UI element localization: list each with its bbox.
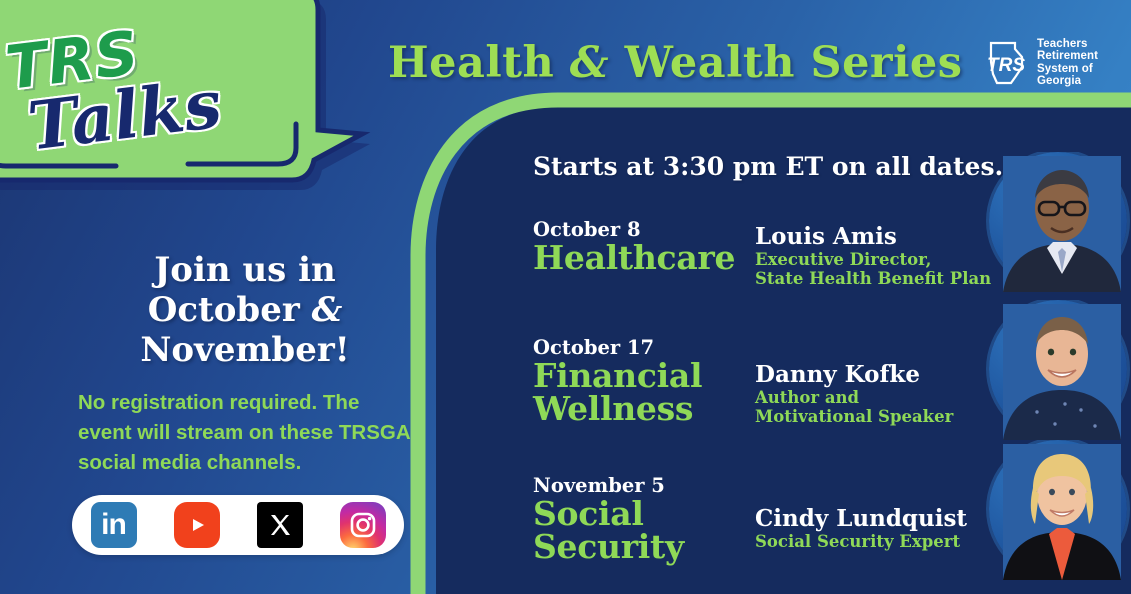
session-3-topic-line-1: Social <box>533 497 755 530</box>
x-twitter-icon[interactable] <box>257 502 303 548</box>
title-part-1: Health <box>388 38 570 88</box>
page-title: Health & Wealth Series <box>388 38 948 88</box>
join-us-heading: Join us in October & November! <box>80 250 410 370</box>
speaker-photo-louis-amis <box>985 152 1131 292</box>
linkedin-icon-label: in <box>101 510 126 540</box>
speaker-photo-cindy-lundquist <box>985 440 1131 580</box>
logo-org-name: Teachers Retirement System of Georgia <box>1037 38 1098 88</box>
session-3-speaker-block: Cindy Lundquist Social Security Expert <box>755 474 967 563</box>
instagram-glyph <box>348 510 378 540</box>
trs-georgia-logo: TRS Teachers Retirement System of Georgi… <box>985 38 1098 88</box>
session-2-topic-block: October 17 Financial Wellness <box>533 336 755 426</box>
session-1-topic: Healthcare <box>533 241 755 274</box>
registration-note: No registration required. The event will… <box>78 388 414 478</box>
svg-text:TRS: TRS <box>987 55 1025 76</box>
logo-org-line-1: Teachers <box>1037 38 1098 50</box>
session-row-social-security: November 5 Social Security Cindy Lundqui… <box>533 474 1003 563</box>
session-row-healthcare: October 8 Healthcare Louis Amis Executiv… <box>533 218 1003 288</box>
session-2-role-line-2: Motivational Speaker <box>755 407 953 426</box>
join-line-2: October & <box>80 290 410 330</box>
join-line-2-text: October <box>148 290 312 330</box>
headshot-image-3 <box>1003 444 1121 580</box>
speaker-photo-danny-kofke <box>985 300 1131 440</box>
promo-poster: TRS Talks Health & Wealth Series TRS Tea… <box>0 0 1131 594</box>
session-1-speaker: Louis Amis <box>755 224 991 250</box>
trs-talks-logo: TRS Talks <box>0 0 386 229</box>
start-time-note: Starts at 3:30 pm ET on all dates. <box>533 152 1003 181</box>
session-1-speaker-block: Louis Amis Executive Director, State Hea… <box>755 218 991 288</box>
session-2-topic-line-1: Financial <box>533 359 755 392</box>
join-ampersand: & <box>312 290 343 330</box>
logo-org-line-4: Georgia <box>1037 75 1098 87</box>
session-2-topic-line-2: Wellness <box>533 392 755 425</box>
join-line-1: Join us in <box>80 250 410 290</box>
join-line-3: November! <box>80 330 410 370</box>
headshot-image-2 <box>1003 304 1121 440</box>
headshot-image-1 <box>1003 156 1121 292</box>
logo-org-line-3: System of <box>1037 63 1098 75</box>
youtube-play-glyph <box>182 514 212 536</box>
title-part-2: Wealth Series <box>609 38 962 88</box>
session-3-topic-block: November 5 Social Security <box>533 474 755 563</box>
logo-org-line-2: Retirement <box>1037 50 1098 62</box>
session-1-role-line-1: Executive Director, <box>755 250 991 269</box>
instagram-icon[interactable] <box>340 502 386 548</box>
georgia-outline-icon: TRS <box>985 40 1029 86</box>
session-3-role-line-1: Social Security Expert <box>755 532 967 551</box>
session-1-role-line-2: State Health Benefit Plan <box>755 269 991 288</box>
x-glyph <box>266 511 294 539</box>
session-2-speaker: Danny Kofke <box>755 362 953 388</box>
linkedin-icon[interactable]: in <box>91 502 137 548</box>
session-2-role-line-1: Author and <box>755 388 953 407</box>
youtube-icon[interactable] <box>174 502 220 548</box>
session-row-financial-wellness: October 17 Financial Wellness Danny Kofk… <box>533 336 1003 426</box>
session-3-speaker: Cindy Lundquist <box>755 506 967 532</box>
session-3-topic-line-2: Security <box>533 530 755 563</box>
session-2-speaker-block: Danny Kofke Author and Motivational Spea… <box>755 336 953 426</box>
session-1-topic-block: October 8 Healthcare <box>533 218 755 288</box>
social-media-bar: in <box>72 495 404 555</box>
title-ampersand: & <box>570 38 609 88</box>
